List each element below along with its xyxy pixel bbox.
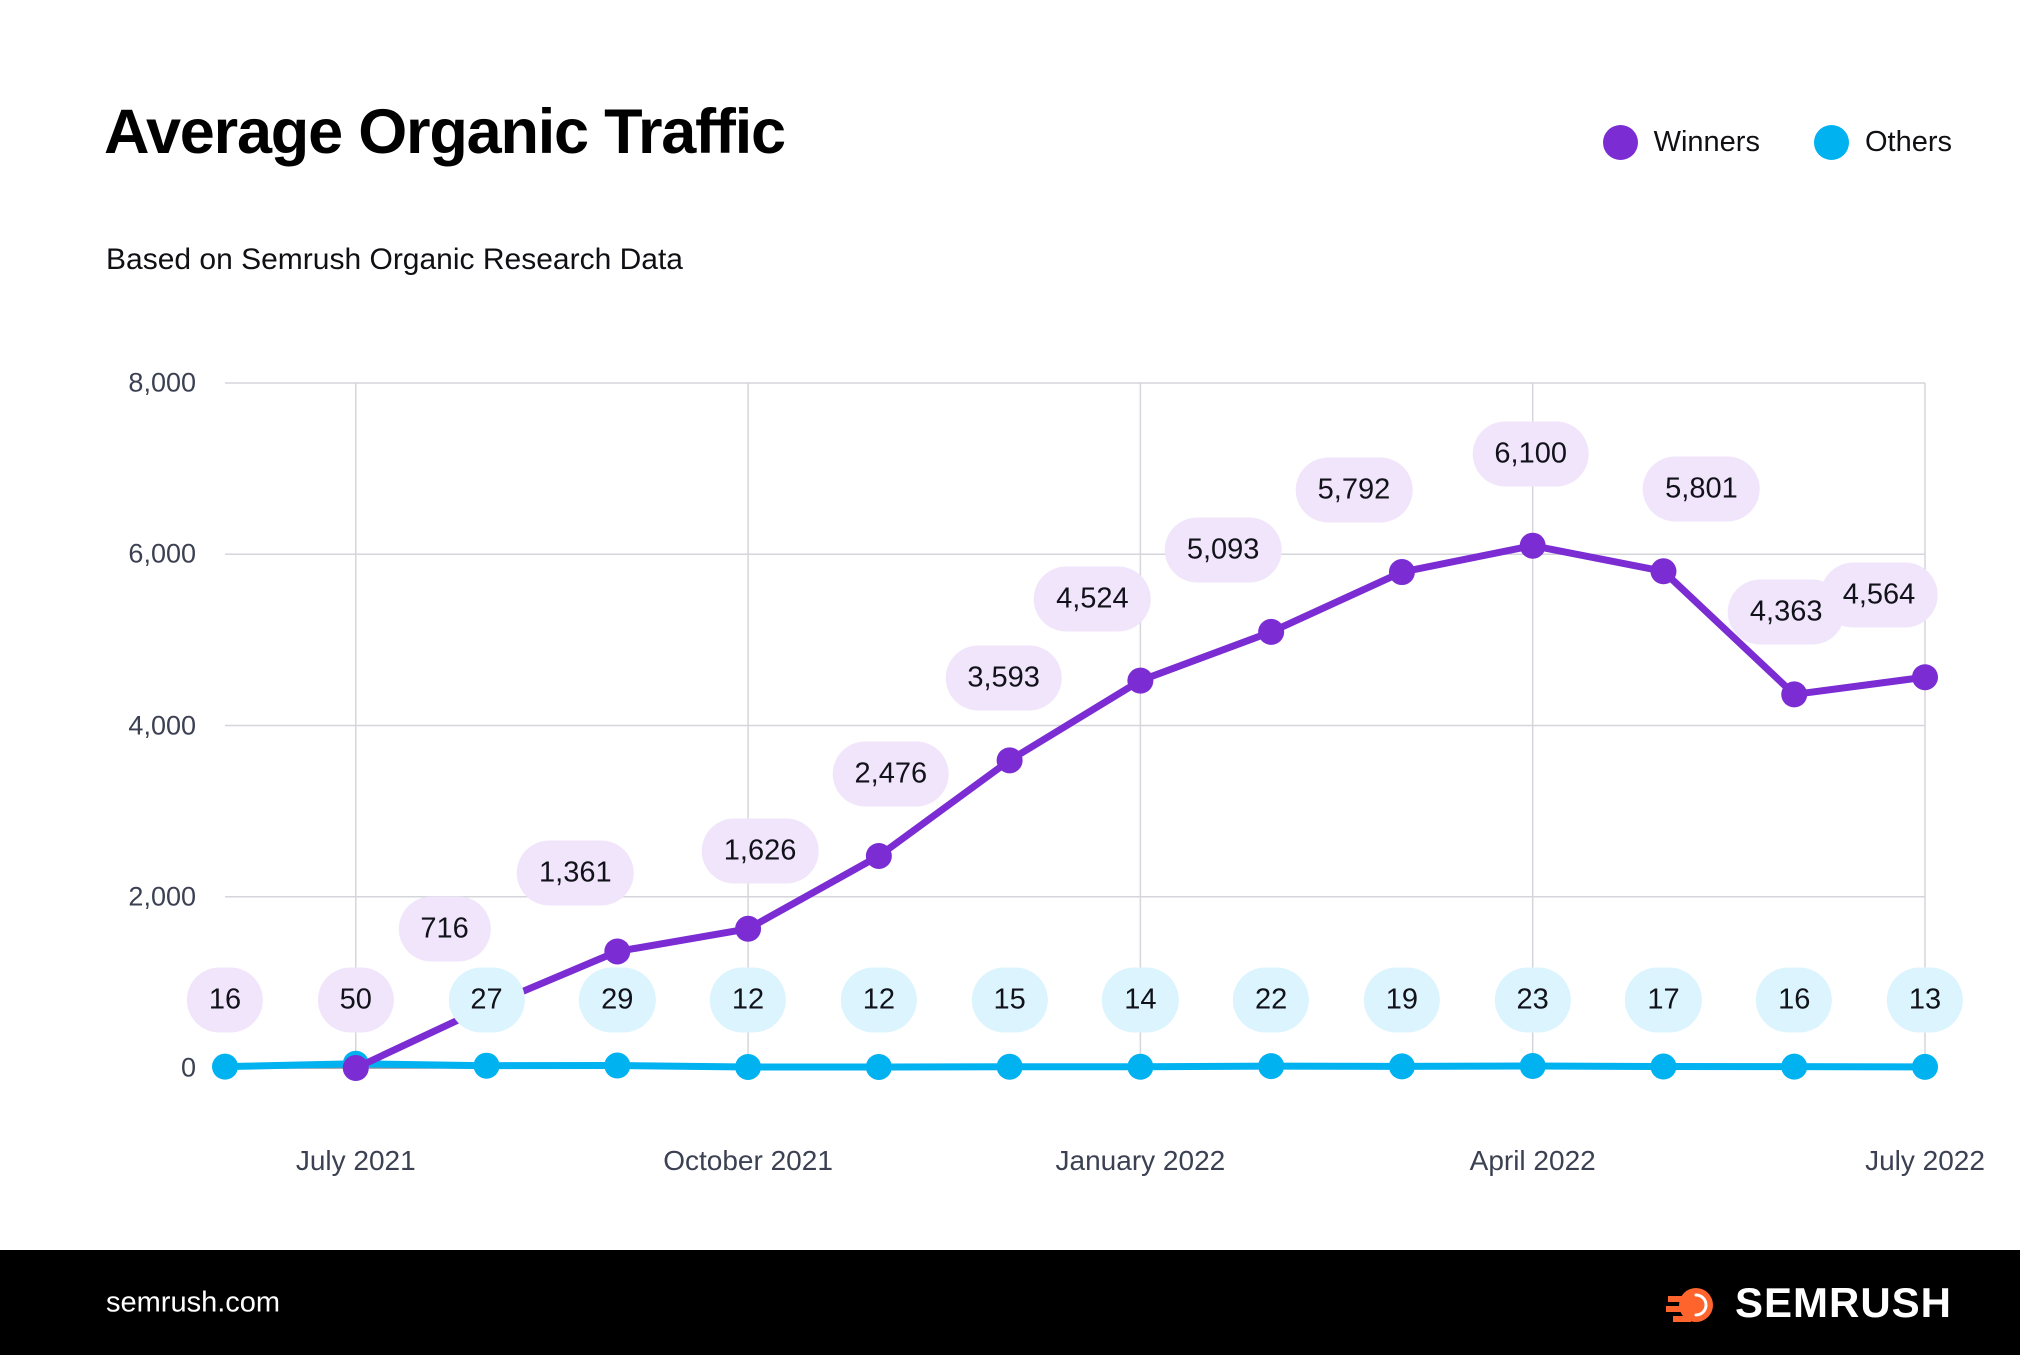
data-label-others: 17 xyxy=(1625,968,1701,1033)
data-point-others[interactable] xyxy=(997,1054,1023,1080)
x-tick-label: January 2022 xyxy=(1056,1145,1226,1177)
data-label-others: 50 xyxy=(318,968,394,1033)
data-label-others: 23 xyxy=(1495,968,1571,1033)
data-label-others: 29 xyxy=(579,968,655,1033)
data-point-winners[interactable] xyxy=(1520,533,1546,559)
data-point-winners[interactable] xyxy=(1650,558,1676,584)
data-label-others: 14 xyxy=(1102,968,1178,1033)
data-label-winners: 3,593 xyxy=(945,646,1062,711)
data-label-winners: 1,626 xyxy=(702,818,819,883)
data-point-winners[interactable] xyxy=(343,1055,369,1081)
data-label-winners: 5,801 xyxy=(1643,457,1760,522)
x-tick-label: July 2022 xyxy=(1865,1145,1985,1177)
semrush-logo: SEMRUSH xyxy=(1665,1277,1952,1329)
data-label-winners: 716 xyxy=(398,896,490,961)
data-label-winners: 6,100 xyxy=(1472,421,1589,486)
data-point-winners[interactable] xyxy=(866,843,892,869)
chart-plot-area: 02,0004,0006,0008,000 July 2021October 2… xyxy=(0,0,2020,1355)
data-label-others: 19 xyxy=(1364,968,1440,1033)
y-tick-label: 0 xyxy=(181,1053,196,1084)
y-tick-label: 4,000 xyxy=(128,710,196,741)
data-point-others[interactable] xyxy=(735,1054,761,1080)
data-point-winners[interactable] xyxy=(1258,619,1284,645)
y-axis-tick-labels: 02,0004,0006,0008,000 xyxy=(0,0,196,1355)
data-point-others[interactable] xyxy=(1912,1054,1938,1080)
data-point-others[interactable] xyxy=(866,1054,892,1080)
semrush-wordmark: SEMRUSH xyxy=(1735,1279,1952,1327)
data-point-others[interactable] xyxy=(1389,1053,1415,1079)
data-point-others[interactable] xyxy=(1650,1054,1676,1080)
semrush-comet-icon xyxy=(1665,1277,1717,1329)
data-point-others[interactable] xyxy=(1781,1054,1807,1080)
data-label-winners: 4,524 xyxy=(1034,566,1151,631)
data-point-winners[interactable] xyxy=(997,747,1023,773)
data-label-others: 15 xyxy=(971,968,1047,1033)
data-point-others[interactable] xyxy=(1258,1053,1284,1079)
data-label-winners: 5,792 xyxy=(1296,458,1413,523)
chart-page: Average Organic Traffic Based on Semrush… xyxy=(0,0,2020,1355)
data-point-winners[interactable] xyxy=(1127,668,1153,694)
data-point-others[interactable] xyxy=(474,1053,500,1079)
y-tick-label: 6,000 xyxy=(128,539,196,570)
data-label-others: 13 xyxy=(1887,968,1963,1033)
data-label-others: 27 xyxy=(448,968,524,1033)
data-label-others: 16 xyxy=(187,968,263,1033)
data-point-others[interactable] xyxy=(604,1053,630,1079)
data-point-winners[interactable] xyxy=(735,916,761,942)
data-point-others[interactable] xyxy=(1127,1054,1153,1080)
data-label-winners: 4,564 xyxy=(1821,563,1938,628)
data-point-winners[interactable] xyxy=(1912,664,1938,690)
footer-url[interactable]: semrush.com xyxy=(106,1286,280,1319)
x-tick-label: July 2021 xyxy=(296,1145,416,1177)
y-tick-label: 2,000 xyxy=(128,881,196,912)
y-tick-label: 8,000 xyxy=(128,368,196,399)
data-label-others: 16 xyxy=(1756,968,1832,1033)
data-point-others[interactable] xyxy=(212,1054,238,1080)
footer-bar: semrush.com SEMRUSH xyxy=(0,1250,2020,1355)
data-point-winners[interactable] xyxy=(604,938,630,964)
data-label-winners: 5,093 xyxy=(1165,517,1282,582)
data-label-winners: 2,476 xyxy=(833,741,950,806)
data-label-others: 12 xyxy=(841,968,917,1033)
data-point-winners[interactable] xyxy=(1389,559,1415,585)
data-point-winners[interactable] xyxy=(1781,681,1807,707)
data-label-winners: 1,361 xyxy=(517,841,634,906)
data-label-others: 22 xyxy=(1233,968,1309,1033)
data-label-others: 12 xyxy=(710,968,786,1033)
x-tick-label: April 2022 xyxy=(1470,1145,1596,1177)
data-point-others[interactable] xyxy=(1520,1053,1546,1079)
x-tick-label: October 2021 xyxy=(663,1145,833,1177)
